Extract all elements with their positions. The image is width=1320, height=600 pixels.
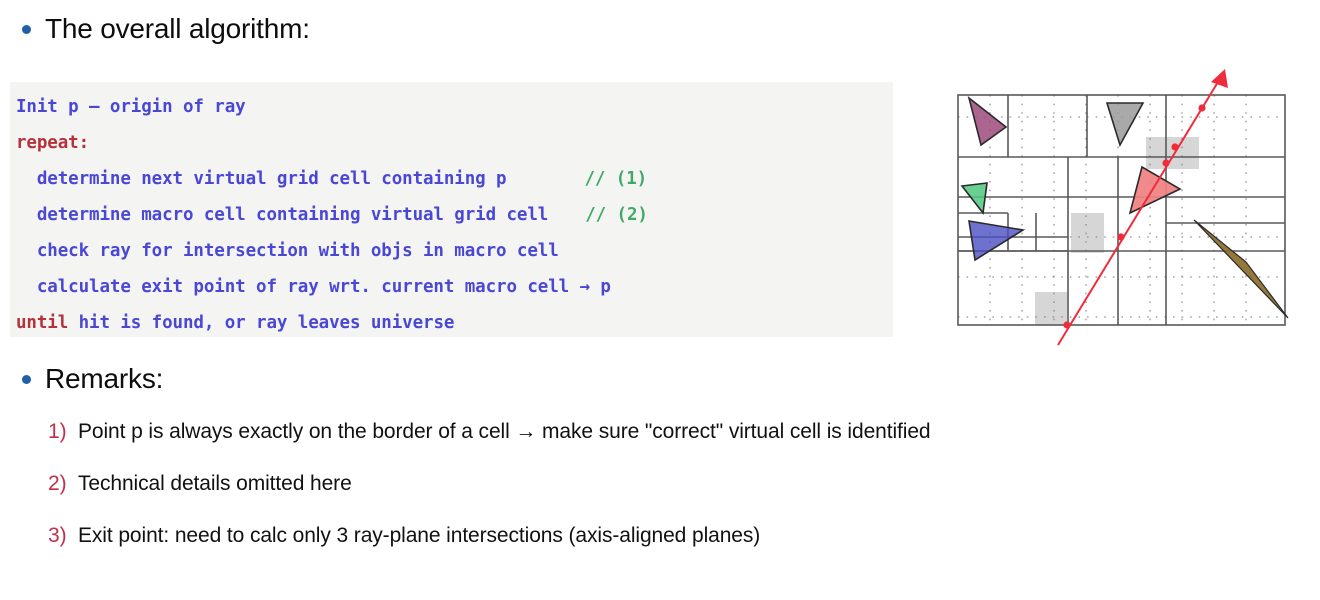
highlighted-cells [1035, 137, 1199, 325]
remark-text-2: Technical details omitted here [78, 470, 352, 498]
code-body-0: Init p — origin of ray [16, 97, 246, 117]
remark-number-2: 2) [48, 470, 78, 498]
remark-number-3: 3) [48, 522, 78, 550]
bullet-overall-algorithm: The overall algorithm: [22, 12, 310, 46]
code-line-6: until hit is found, or ray leaves univer… [16, 305, 893, 341]
brown-triangle [1194, 220, 1288, 318]
code-line-0: Init p — origin of ray [16, 89, 893, 125]
code-body-6: hit is found, or ray leaves universe [68, 313, 454, 333]
green-triangle [962, 183, 987, 213]
code-line-1: repeat: [16, 125, 893, 161]
remark-item-3: 3) Exit point: need to calc only 3 ray-p… [48, 522, 760, 550]
code-body-1: : [79, 133, 89, 153]
remark-text-1: Point p is always exactly on the border … [78, 418, 930, 446]
code-body-2: determine next virtual grid cell contain… [16, 169, 507, 189]
red-triangle [1130, 167, 1180, 213]
remark-text-3: Exit point: need to calc only 3 ray-plan… [78, 522, 760, 550]
remark-item-2: 2) Technical details omitted here [48, 470, 352, 498]
code-line-5: calculate exit point of ray wrt. current… [16, 269, 893, 305]
code-body-5: calculate exit point of ray wrt. current… [16, 277, 611, 297]
code-line-2: determine next virtual grid cell contain… [16, 161, 893, 197]
bullet-label-algorithm: The overall algorithm: [45, 12, 310, 46]
bullet-dot-icon [22, 375, 31, 384]
code-comment-2: // (1) [585, 169, 648, 189]
code-body-4: check ray for intersection with objs in … [16, 241, 559, 261]
remark-item-1: 1) Point p is always exactly on the bord… [48, 418, 930, 446]
blue-triangle [969, 221, 1023, 260]
code-keyword-1: repeat [16, 133, 79, 153]
bullet-dot-icon [22, 25, 31, 34]
remark-number-1: 1) [48, 418, 78, 446]
code-comment-3: // (2) [585, 205, 648, 225]
code-keyword-6: until [16, 313, 68, 333]
pseudocode-block: Init p — origin of ray repeat: determine… [10, 82, 893, 337]
macro-cell-grid-diagram [940, 55, 1315, 355]
purple-triangle [969, 98, 1006, 145]
bullet-label-remarks: Remarks: [45, 362, 163, 396]
code-line-3: determine macro cell containing virtual … [16, 197, 893, 233]
code-body-3: determine macro cell containing virtual … [16, 205, 548, 225]
gray-triangle [1107, 103, 1143, 145]
bullet-remarks: Remarks: [22, 362, 163, 396]
code-line-4: check ray for intersection with objs in … [16, 233, 893, 269]
